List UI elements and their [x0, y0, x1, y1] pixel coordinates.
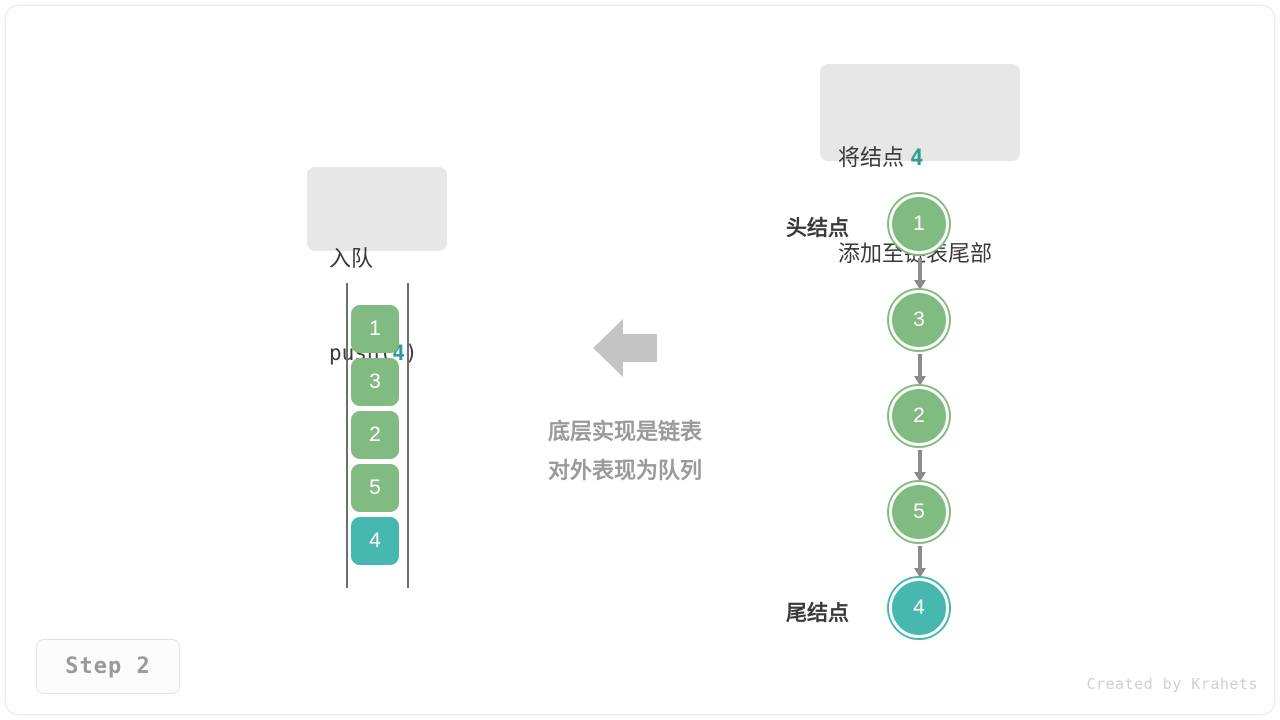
- queue-cell: 5: [351, 464, 399, 512]
- queue-cell: 1: [351, 305, 399, 353]
- list-node: 3: [889, 290, 949, 350]
- callout-append-value: 4: [910, 146, 923, 171]
- list-link-arrow: [914, 258, 926, 290]
- head-node-label: 头结点: [786, 212, 849, 242]
- diagram-canvas: 将结点 4 添加至链表尾部 入队 push(4) 1 3 2 5 4 底层实现是…: [0, 0, 1280, 720]
- callout-append-line1-prefix: 将结点: [838, 145, 910, 170]
- queue-column: 1 3 2 5 4: [340, 283, 416, 588]
- list-node: 5: [889, 482, 949, 542]
- list-link-arrow: [914, 546, 926, 578]
- list-link-arrow: [914, 354, 926, 386]
- footer-credit: Created by Krahets: [1086, 675, 1258, 693]
- center-caption: 底层实现是链表 对外表现为队列: [500, 412, 750, 490]
- callout-enqueue: 入队 push(4): [307, 167, 447, 251]
- list-node-highlighted: 4: [889, 578, 949, 638]
- step-badge: Step 2: [36, 639, 180, 694]
- arrow-left-icon: [593, 317, 657, 379]
- tail-node-label: 尾结点: [786, 597, 849, 627]
- queue-cell-list: 1 3 2 5 4: [351, 305, 401, 570]
- callout-enqueue-line1: 入队: [329, 243, 447, 275]
- queue-cell: 3: [351, 358, 399, 406]
- queue-cell-highlighted: 4: [351, 517, 399, 565]
- callout-append-line1: 将结点 4: [838, 142, 1020, 175]
- linked-list: 1 3 2 5 4: [860, 184, 990, 654]
- queue-rail-right: [407, 283, 409, 588]
- list-link-arrow: [914, 450, 926, 482]
- callout-append-to-tail: 将结点 4 添加至链表尾部: [820, 64, 1020, 161]
- list-node: 2: [889, 386, 949, 446]
- queue-cell: 2: [351, 411, 399, 459]
- queue-rail-left: [346, 283, 348, 588]
- list-node: 1: [889, 194, 949, 254]
